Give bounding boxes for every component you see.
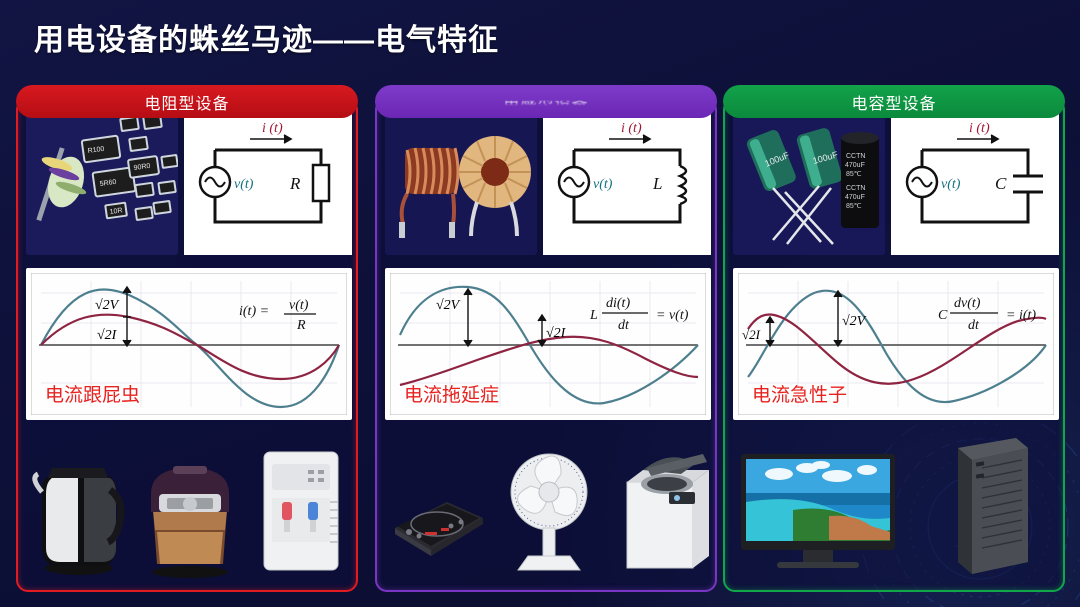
svg-text:85℃: 85℃ [846,203,862,210]
appliances-row-inductive [385,432,711,584]
components-row-resistive: R100 5R60 90R0 10R [26,110,352,255]
svg-text:CCTN: CCTN [846,153,865,160]
panel-inductive: i (t) v(t) L √2V [375,98,717,592]
circuit-voltage-label: v(t) [941,177,961,192]
circuit-capacitive: i (t) v(t) C [891,110,1059,255]
panel-header-label: 电感型设备 [503,90,588,114]
circuit-current-label: i (t) [621,121,642,136]
appliance-computer-tower [936,432,1059,584]
waveform-caption: 电流急性子 [752,384,847,406]
appliance-television [733,432,931,584]
svg-text:470uF: 470uF [845,162,865,169]
svg-text:470uF: 470uF [845,194,865,201]
formula-numerator: v(t) [289,298,309,313]
circuit-element-label: L [652,174,662,193]
appliance-electric-fan [496,432,602,584]
waveform-current-label: √2I [742,327,761,342]
panel-resistive: R100 5R60 90R0 10R [16,98,358,592]
formula-numerator: dv(t) [954,296,981,311]
panel-capacitive: 100uF 100uF CCTN4 [723,98,1065,592]
waveform-current-label: √2I [97,328,118,343]
circuit-current-label: i (t) [969,121,990,136]
appliance-electric-kettle [26,432,132,584]
formula-lhs: C [938,308,948,323]
appliance-washing-machine [607,432,713,584]
panel-header-label: 电容型设备 [851,90,936,114]
waveform-caption: 电流跟屁虫 [45,384,140,406]
waveform-chart-capacitive: √2I √2V C dv(t) dt = i(t) 电流急性子 [733,268,1059,420]
circuit-resistive: i (t) v(t) R [184,110,352,255]
panel-header-capacitive[interactable]: 电容型设备 [723,85,1065,118]
inductor-coils-photo [385,110,537,255]
waveform-voltage-label: √2V [436,298,461,313]
formula-rhs: = i(t) [1006,308,1036,323]
panel-header-resistive[interactable]: 电阻型设备 [16,85,358,118]
waveform-voltage-label: √2V [95,298,120,313]
waveform-chart-resistive: √2V √2I i(t) = v(t) R 电流跟屁虫 [26,268,352,420]
panel-header-inductive[interactable]: 电感型设备 [375,85,717,118]
formula-lhs: i(t) = [239,304,269,319]
svg-text:85℃: 85℃ [846,171,862,178]
slide-root: AI 用电设备的蛛丝马迹——电气特征 电阻型设备 [0,0,1080,607]
circuit-inductive: i (t) v(t) L [543,110,711,255]
appliances-row-capacitive [733,432,1059,584]
panel-header-label: 电阻型设备 [144,90,229,114]
appliance-induction-cooker [385,432,491,584]
svg-text:CCTN: CCTN [846,185,865,192]
electrolytic-capacitors-photo: 100uF 100uF CCTN4 [733,110,885,255]
waveform-chart-inductive: √2V √2I L di(t) dt = v(t) 电流拖延症 [385,268,711,420]
page-title: 用电设备的蛛丝马迹——电气特征 [34,15,499,59]
circuit-voltage-label: v(t) [593,177,613,192]
appliances-row-resistive [26,432,352,584]
appliance-water-dispenser [248,432,354,584]
circuit-element-label: C [995,174,1007,193]
formula-lhs: L [589,308,598,323]
formula-rhs: = v(t) [656,308,689,323]
components-row-capacitive: 100uF 100uF CCTN4 [733,110,1059,255]
waveform-current-label: √2I [546,326,567,341]
waveform-caption: 电流拖延症 [404,384,499,406]
waveform-voltage-label: √2V [842,314,867,329]
formula-denominator: R [296,318,306,333]
resistors-photo: R100 5R60 90R0 10R [26,110,178,255]
circuit-voltage-label: v(t) [234,177,254,192]
circuit-element-label: R [289,174,301,193]
circuit-current-label: i (t) [262,121,283,136]
appliance-rice-cooker [137,432,243,584]
formula-numerator: di(t) [606,296,630,311]
formula-denominator: dt [618,318,630,333]
formula-denominator: dt [968,318,980,333]
components-row-inductive: i (t) v(t) L [385,110,711,255]
